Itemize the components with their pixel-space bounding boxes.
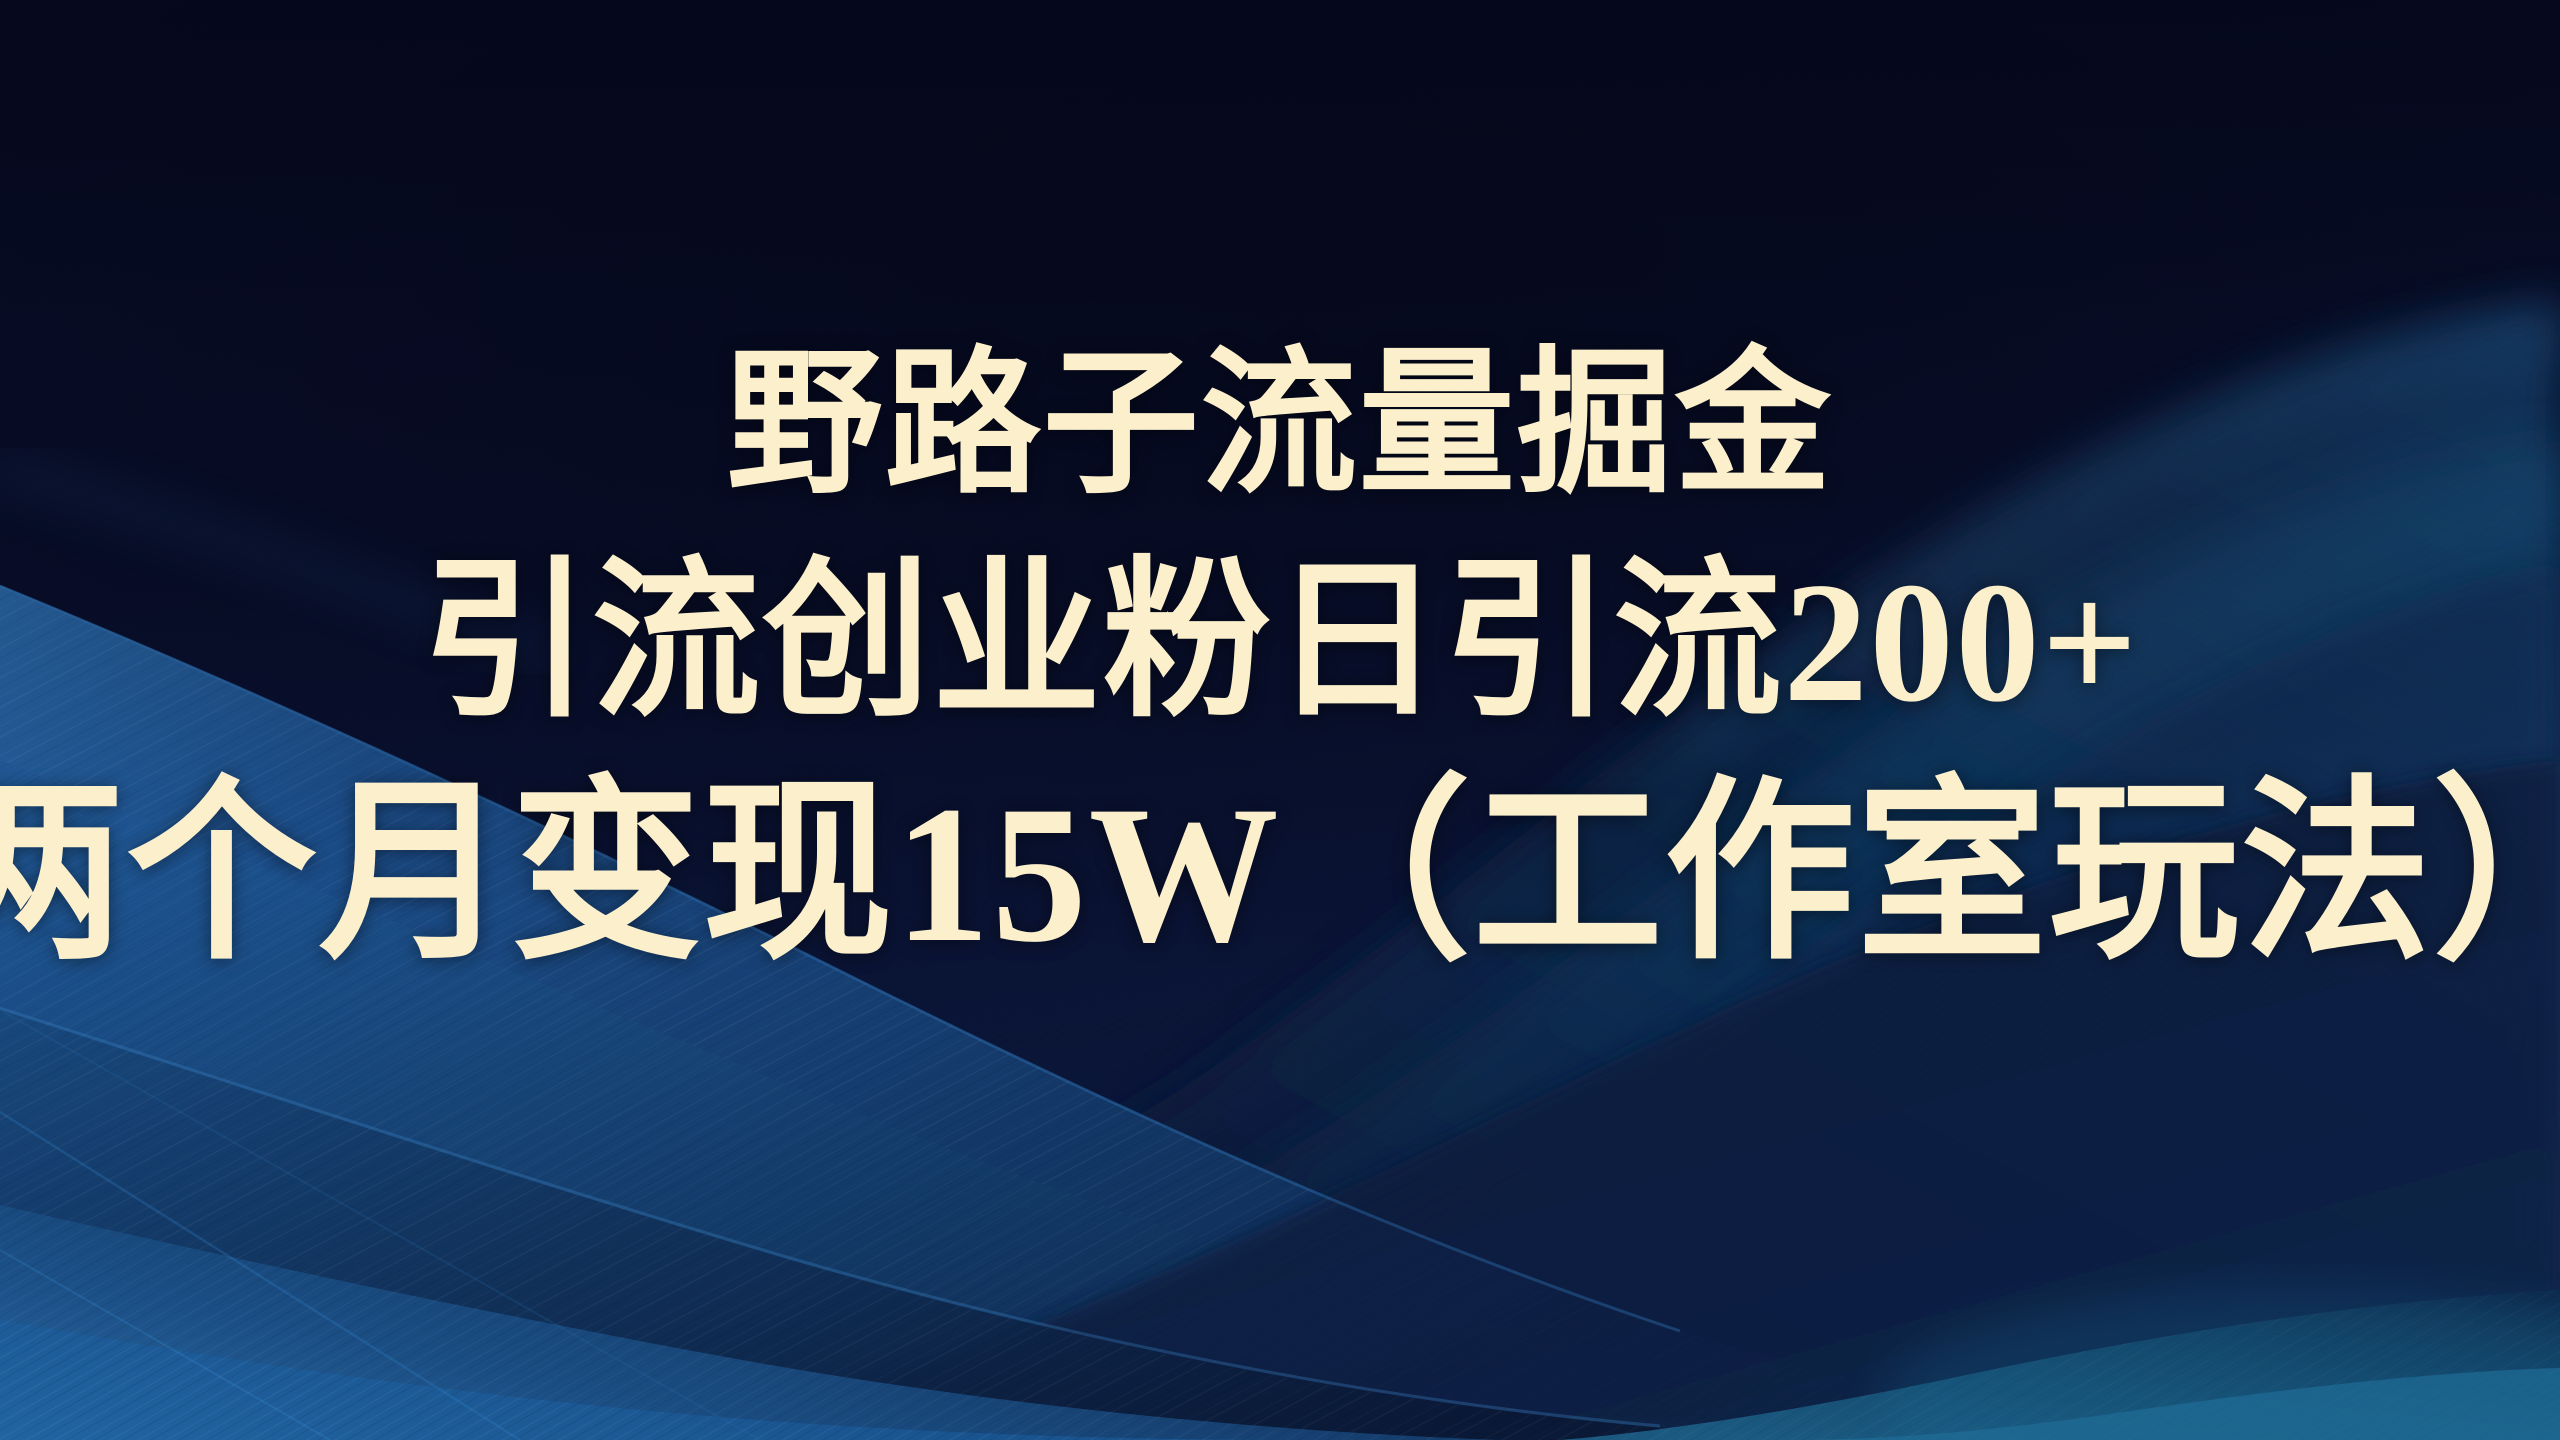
headline-line-1: 野路子流量掘金 bbox=[727, 347, 1833, 505]
poster-canvas: 野路子流量掘金 引流创业粉日引流200+ 两个月变现15W（工作室玩法） bbox=[0, 0, 2560, 1440]
headline-block: 野路子流量掘金 引流创业粉日引流200+ 两个月变现15W（工作室玩法） bbox=[0, 0, 2560, 1440]
headline-line-2: 引流创业粉日引流200+ bbox=[421, 557, 2139, 729]
headline-line-3: 两个月变现15W（工作室玩法） bbox=[0, 777, 2560, 973]
